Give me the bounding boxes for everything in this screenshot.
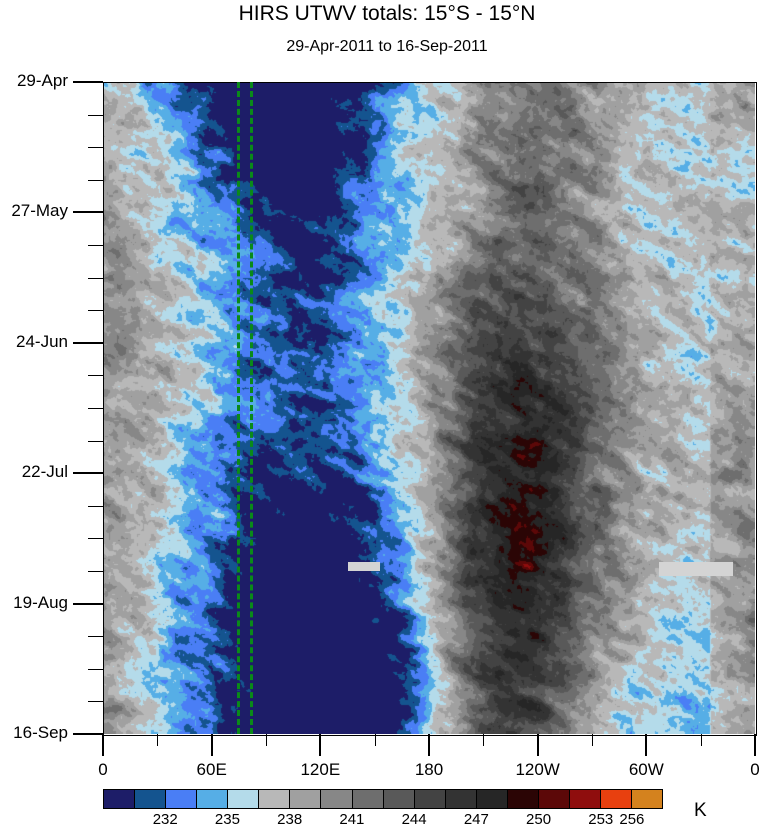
x-axis-tick-minor: [483, 734, 484, 746]
colorbar-tick-label: 238: [267, 811, 313, 828]
y-axis-tick-minor: [88, 180, 103, 181]
x-axis-label: 120W: [498, 760, 578, 780]
x-axis-label: 0: [63, 760, 143, 780]
y-axis-tick-minor: [88, 636, 103, 637]
y-axis-tick-minor: [88, 115, 103, 116]
colorbar-tick-label: 244: [391, 811, 437, 828]
colorbar-swatch[interactable]: [477, 790, 508, 808]
colorbar-swatch[interactable]: [290, 790, 321, 808]
colorbar-swatch[interactable]: [228, 790, 259, 808]
colorbar-swatch[interactable]: [539, 790, 570, 808]
x-axis-tick-minor: [157, 734, 158, 746]
colorbar-swatch[interactable]: [166, 790, 197, 808]
colorbar-tick-label: 256: [609, 811, 655, 828]
x-axis-tick-major: [645, 734, 647, 756]
colorbar-swatch[interactable]: [570, 790, 601, 808]
x-axis-tick-major: [319, 734, 321, 756]
colorbar-swatch[interactable]: [384, 790, 415, 808]
colorbar-swatch[interactable]: [446, 790, 477, 808]
colorbar-swatch[interactable]: [135, 790, 166, 808]
colorbar-swatch[interactable]: [104, 790, 135, 808]
x-axis-tick-major: [754, 734, 756, 756]
y-axis-tick-minor: [88, 408, 103, 409]
y-axis-tick-minor: [88, 441, 103, 442]
y-axis-label: 24-Jun: [0, 332, 68, 352]
hovmoller-heatmap-canvas: [103, 82, 755, 734]
x-axis-tick-minor: [592, 734, 593, 746]
y-axis-tick-minor: [88, 506, 103, 507]
y-axis-tick-major: [73, 81, 103, 83]
x-axis-label: 60E: [172, 760, 252, 780]
x-axis-tick-major: [537, 734, 539, 756]
y-axis-label: 16-Sep: [0, 723, 68, 743]
colorbar-tick-label: 241: [329, 811, 375, 828]
colorbar-tick-label: 232: [142, 811, 188, 828]
colorbar-swatch[interactable]: [415, 790, 446, 808]
x-axis-tick-major: [211, 734, 213, 756]
y-axis-tick-minor: [88, 375, 103, 376]
y-axis-tick-minor: [88, 147, 103, 148]
colorbar-swatch[interactable]: [353, 790, 384, 808]
colorbar-swatch[interactable]: [197, 790, 228, 808]
x-axis-label: 120E: [280, 760, 360, 780]
y-axis-tick-minor: [88, 245, 103, 246]
x-axis-tick-minor: [266, 734, 267, 746]
x-axis-tick-minor: [701, 734, 702, 746]
colorbar[interactable]: [103, 789, 663, 809]
y-axis-tick-minor: [88, 310, 103, 311]
meridian-marker-line: [250, 82, 253, 734]
missing-data-bar: [348, 562, 381, 571]
y-axis-tick-minor: [88, 278, 103, 279]
hovmoller-plot-area: [103, 82, 755, 734]
x-axis-tick-major: [428, 734, 430, 756]
colorbar-tick-label: 247: [453, 811, 499, 828]
x-axis-label: 0: [715, 760, 774, 780]
missing-data-bar: [659, 562, 733, 576]
y-axis-tick-major: [73, 342, 103, 344]
colorbar-swatch[interactable]: [321, 790, 352, 808]
colorbar-swatch[interactable]: [508, 790, 539, 808]
y-axis-tick-major: [73, 733, 103, 735]
chart-title: HIRS UTWV totals: 15°S - 15°N: [0, 2, 774, 26]
colorbar-tick-label: 250: [516, 811, 562, 828]
colorbar-swatch[interactable]: [632, 790, 662, 808]
colorbar-tick-label: 235: [204, 811, 250, 828]
hovmoller-figure: HIRS UTWV totals: 15°S - 15°N 29-Apr-201…: [0, 0, 774, 834]
y-axis-label: 19-Aug: [0, 593, 68, 613]
y-axis-label: 27-May: [0, 201, 68, 221]
x-axis-tick-minor: [375, 734, 376, 746]
y-axis-tick-minor: [88, 538, 103, 539]
colorbar-unit-label: K: [694, 800, 707, 822]
meridian-marker-line: [237, 82, 240, 734]
y-axis-tick-major: [73, 211, 103, 213]
y-axis-label: 29-Apr: [0, 71, 68, 91]
y-axis-tick-minor: [88, 701, 103, 702]
y-axis-label: 22-Jul: [0, 462, 68, 482]
x-axis-tick-major: [102, 734, 104, 756]
y-axis-tick-major: [73, 472, 103, 474]
colorbar-swatch[interactable]: [601, 790, 632, 808]
y-axis-tick-major: [73, 603, 103, 605]
colorbar-swatch[interactable]: [259, 790, 290, 808]
x-axis-label: 180: [389, 760, 469, 780]
y-axis-tick-minor: [88, 669, 103, 670]
chart-subtitle: 29-Apr-2011 to 16-Sep-2011: [0, 38, 774, 56]
y-axis-tick-minor: [88, 571, 103, 572]
x-axis-label: 60W: [606, 760, 686, 780]
